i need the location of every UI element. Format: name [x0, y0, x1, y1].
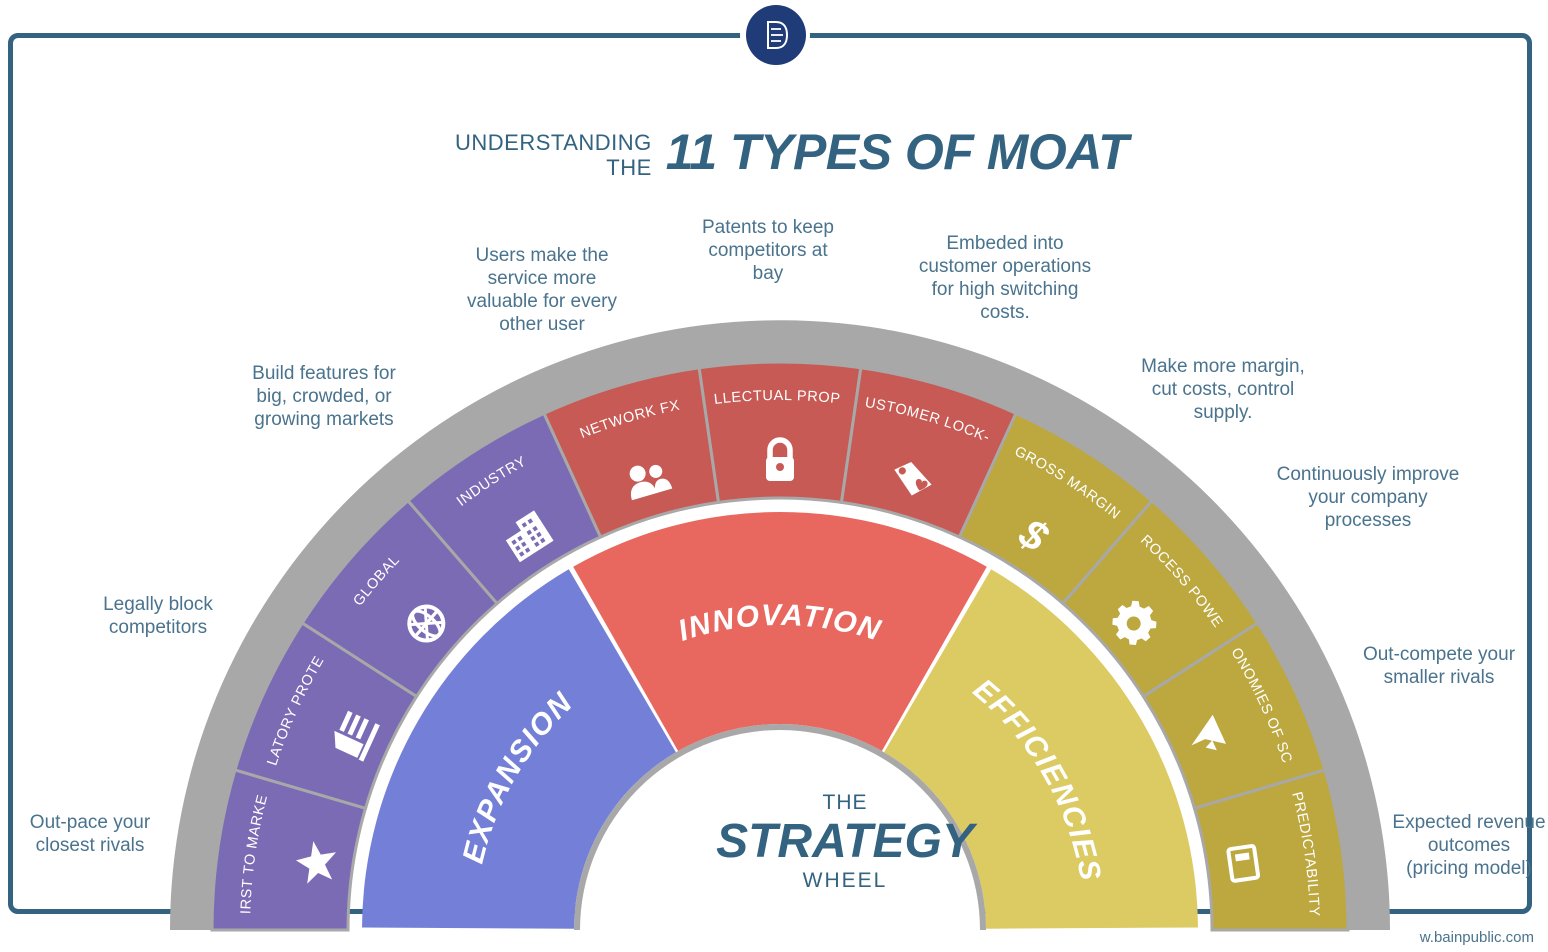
wheel-center-text: THE STRATEGY WHEEL — [659, 790, 1031, 894]
annotation-line: big, crowded, or — [244, 385, 404, 408]
annotation-line: Legally block — [96, 593, 220, 616]
moat-segment-intellectual-property[interactable] — [699, 362, 861, 502]
note-users-make: Users make theservice morevaluable for e… — [462, 244, 622, 336]
annotation-line: Continuously improve — [1276, 463, 1460, 486]
note-out-pace: Out-pace yourclosest rivals — [24, 811, 156, 857]
annotation-line: Out-compete your — [1360, 643, 1518, 666]
annotation-line: Expected revenue — [1390, 811, 1548, 834]
annotation-line: service more — [462, 267, 622, 290]
annotation-line: competitors — [96, 616, 220, 639]
note-legally-block: Legally blockcompetitors — [96, 593, 220, 639]
note-continuously: Continuously improveyour companyprocesse… — [1276, 463, 1460, 532]
note-out-compete: Out-compete yoursmaller rivals — [1360, 643, 1518, 689]
note-expected-rev: Expected revenueoutcomes(pricing model) — [1390, 811, 1548, 880]
annotation-line: Make more margin, — [1140, 355, 1306, 378]
note-build-features: Build features forbig, crowded, orgrowin… — [244, 362, 404, 431]
center-the: THE — [659, 790, 1031, 816]
annotation-line: growing markets — [244, 408, 404, 431]
annotation-line: for high switching — [912, 278, 1098, 301]
annotation-line: closest rivals — [24, 834, 156, 857]
note-make-margin: Make more margin,cut costs, controlsuppl… — [1140, 355, 1306, 424]
annotation-line: Build features for — [244, 362, 404, 385]
note-patents: Patents to keepcompetitors atbay — [694, 216, 842, 285]
center-wheel: WHEEL — [659, 868, 1031, 894]
annotation-line: smaller rivals — [1360, 666, 1518, 689]
annotation-line: Patents to keep — [694, 216, 842, 239]
center-title: STRATEGY — [659, 816, 1031, 868]
annotation-line: (pricing model) — [1390, 857, 1548, 880]
annotation-line: your company — [1276, 486, 1460, 509]
infographic-canvas: UNDERSTANDING THE 11 TYPES OF MOAT EXPAN… — [0, 0, 1548, 952]
annotation-line: outcomes — [1390, 834, 1548, 857]
annotation-line: Embeded into — [912, 232, 1098, 255]
annotation-line: Users make the — [462, 244, 622, 267]
annotation-line: cut costs, control — [1140, 378, 1306, 401]
annotation-line: processes — [1276, 509, 1460, 532]
annotation-line: bay — [694, 262, 842, 285]
annotation-line: costs. — [912, 301, 1098, 324]
annotation-line: other user — [462, 313, 622, 336]
annotation-line: supply. — [1140, 401, 1306, 424]
footer-url: w.bainpublic.com — [1420, 929, 1534, 946]
annotation-line: Out-pace your — [24, 811, 156, 834]
annotation-line: customer operations — [912, 255, 1098, 278]
note-embeded: Embeded intocustomer operationsfor high … — [912, 232, 1098, 324]
annotation-line: competitors at — [694, 239, 842, 262]
annotation-line: valuable for every — [462, 290, 622, 313]
